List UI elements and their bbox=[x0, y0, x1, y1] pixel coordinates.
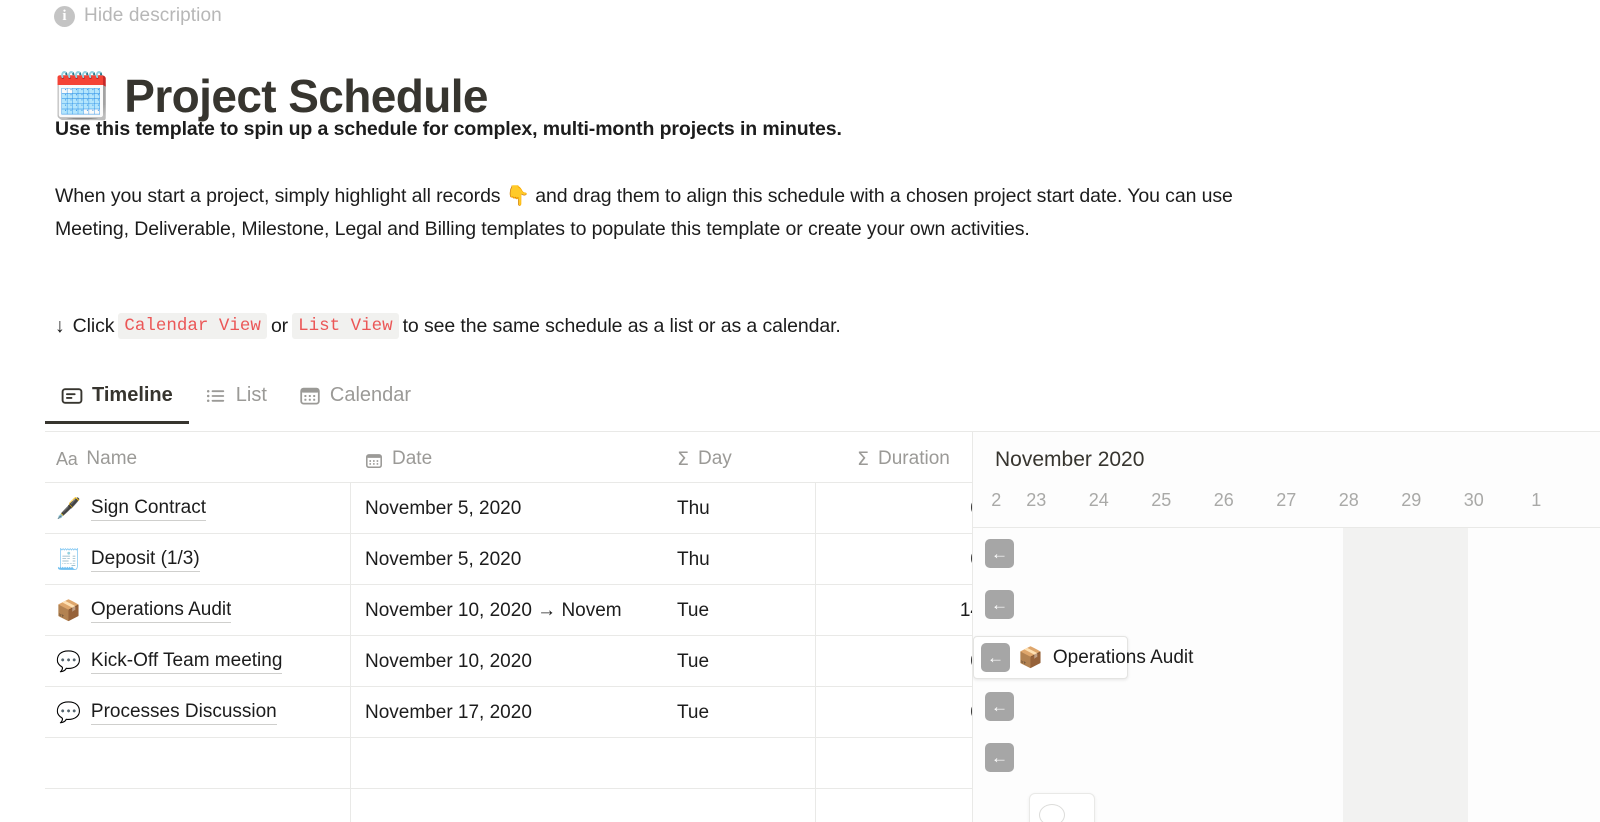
column-header-name[interactable]: Aa Name bbox=[56, 432, 137, 483]
row-date-cell[interactable]: November 17, 2020 bbox=[365, 687, 661, 738]
timeline-body: ← ← ← 📦 Operations Audit ← ← bbox=[973, 528, 1600, 822]
schedule-table: Aa Name bbox=[45, 432, 993, 822]
timeline-row[interactable]: ← bbox=[973, 528, 1600, 579]
row-day-cell: Tue bbox=[677, 687, 847, 738]
sigma-formula-icon: Σ bbox=[677, 448, 689, 470]
row-name-cell[interactable]: 🖋️ Sign Contract bbox=[56, 483, 351, 534]
timeline-day-tick: 1 bbox=[1505, 490, 1568, 511]
click-prefix-label: Click bbox=[73, 315, 115, 338]
row-name-label: Deposit (1/3) bbox=[91, 548, 200, 572]
timeline-day-tick: 24 bbox=[1068, 490, 1131, 511]
package-icon: 📦 bbox=[1018, 648, 1043, 668]
drag-left-handle-icon[interactable]: ← bbox=[985, 590, 1014, 619]
page-title: Project Schedule bbox=[124, 71, 488, 122]
column-header-duration-label: Duration bbox=[878, 448, 950, 470]
tab-list-label: List bbox=[236, 384, 267, 407]
table-row[interactable]: 🖋️ Sign Contract November 5, 2020 Thu 0 bbox=[45, 483, 993, 534]
calendar-icon bbox=[299, 385, 321, 407]
column-header-day-label: Day bbox=[698, 448, 732, 470]
timeline-day-tick: 30 bbox=[1443, 490, 1506, 511]
column-header-name-label: Name bbox=[86, 448, 137, 470]
timeline-bar-partial[interactable] bbox=[1029, 793, 1095, 822]
row-name-cell[interactable]: 💬 Processes Discussion bbox=[56, 687, 351, 738]
receipt-icon: 🧾 bbox=[56, 550, 81, 570]
row-name-cell[interactable]: 🧾 Deposit (1/3) bbox=[56, 534, 351, 585]
row-date-cell[interactable]: November 10, 2020 bbox=[365, 636, 661, 687]
row-name-label: Operations Audit bbox=[91, 599, 231, 623]
timeline-panel: November 2020 2 23 24 25 26 27 28 29 30 … bbox=[972, 432, 1600, 822]
timeline-bar-label: Operations Audit bbox=[1053, 647, 1193, 669]
speech-balloon-icon: 💬 bbox=[56, 652, 81, 672]
project-schedule-page: i Hide description 🗓️ Project Schedule U… bbox=[0, 0, 1600, 822]
row-date-cell[interactable]: November 5, 2020 bbox=[365, 483, 661, 534]
list-view-code-chip[interactable]: List View bbox=[292, 313, 399, 339]
tab-calendar[interactable]: Calendar bbox=[283, 380, 427, 424]
table-row-partial[interactable] bbox=[45, 738, 993, 789]
speech-balloon-icon bbox=[1039, 804, 1065, 822]
calendar-pad-emoji-icon: 🗓️ bbox=[53, 73, 110, 119]
row-day-cell: Tue bbox=[677, 636, 847, 687]
description-paragraph: When you start a project, simply highlig… bbox=[55, 180, 1270, 246]
info-circle-icon: i bbox=[54, 6, 75, 27]
drag-left-handle-icon[interactable]: ← bbox=[985, 743, 1014, 772]
row-day-cell: Thu bbox=[677, 483, 847, 534]
table-row[interactable]: 🧾 Deposit (1/3) November 5, 2020 Thu 0 bbox=[45, 534, 993, 585]
timeline-day-tick: 28 bbox=[1318, 490, 1381, 511]
view-tabs: Timeline List bbox=[45, 380, 427, 424]
arrow-down-icon: ↓ bbox=[55, 315, 65, 338]
tab-timeline-label: Timeline bbox=[92, 384, 173, 407]
timeline-day-tick: 25 bbox=[1130, 490, 1193, 511]
tab-list[interactable]: List bbox=[189, 380, 283, 424]
drag-left-handle-icon[interactable]: ← bbox=[985, 539, 1014, 568]
table-row[interactable]: 💬 Processes Discussion November 17, 2020… bbox=[45, 687, 993, 738]
timeline-row-partial[interactable] bbox=[973, 783, 1600, 822]
timeline-month-label: November 2020 bbox=[995, 448, 1144, 472]
drag-left-handle-icon[interactable]: ← bbox=[985, 692, 1014, 721]
description-click-line: ↓ Click Calendar View or List View to se… bbox=[55, 313, 841, 339]
row-day-cell: Thu bbox=[677, 534, 847, 585]
timeline-day-tick: 26 bbox=[1193, 490, 1256, 511]
list-icon bbox=[205, 385, 227, 407]
package-icon: 📦 bbox=[56, 601, 81, 621]
column-header-duration[interactable]: Σ Duration bbox=[857, 432, 950, 483]
row-name-cell[interactable]: 📦 Operations Audit bbox=[56, 585, 351, 636]
drag-left-handle-icon[interactable]: ← bbox=[981, 643, 1010, 672]
sigma-formula-icon: Σ bbox=[857, 448, 869, 470]
timeline-row[interactable]: ← 📦 Operations Audit bbox=[973, 630, 1600, 681]
table-row[interactable]: 💬 Kick-Off Team meeting November 10, 202… bbox=[45, 636, 993, 687]
row-date-cell[interactable]: November 10, 2020 → Novem bbox=[365, 585, 661, 636]
table-header-row: Aa Name bbox=[45, 432, 993, 483]
timeline-day-tick: 29 bbox=[1380, 490, 1443, 511]
click-suffix-label: to see the same schedule as a list or as… bbox=[403, 315, 841, 338]
row-name-label: Sign Contract bbox=[91, 497, 206, 521]
calendar-icon bbox=[365, 452, 383, 470]
timeline-row[interactable]: ← bbox=[973, 579, 1600, 630]
timeline-day-axis: 2 23 24 25 26 27 28 29 30 1 bbox=[973, 490, 1600, 524]
hide-description-toggle[interactable]: i Hide description bbox=[54, 5, 222, 27]
timeline-row[interactable]: ← bbox=[973, 732, 1600, 783]
column-header-date[interactable]: Date bbox=[365, 432, 432, 483]
hide-description-label: Hide description bbox=[84, 5, 222, 27]
speech-balloon-icon: 💬 bbox=[56, 703, 81, 723]
tab-calendar-label: Calendar bbox=[330, 384, 411, 407]
description-bold-line: Use this template to spin up a schedule … bbox=[55, 118, 842, 141]
timeline-row[interactable]: ← bbox=[973, 681, 1600, 732]
click-or-label: or bbox=[271, 315, 288, 338]
timeline-day-tick: 27 bbox=[1255, 490, 1318, 511]
timeline-bar-operations-audit[interactable]: ← 📦 Operations Audit bbox=[973, 636, 1128, 679]
timeline-day-tick: 23 bbox=[1005, 490, 1068, 511]
timeline-icon bbox=[61, 385, 83, 407]
pen-icon: 🖋️ bbox=[56, 499, 81, 519]
column-header-date-label: Date bbox=[392, 448, 432, 470]
aa-text-icon: Aa bbox=[56, 449, 77, 470]
column-header-day[interactable]: Σ Day bbox=[677, 432, 732, 483]
row-date-cell[interactable]: November 5, 2020 bbox=[365, 534, 661, 585]
row-name-label: Kick-Off Team meeting bbox=[91, 650, 282, 674]
row-name-label: Processes Discussion bbox=[91, 701, 277, 725]
row-name-cell[interactable]: 💬 Kick-Off Team meeting bbox=[56, 636, 351, 687]
calendar-view-code-chip[interactable]: Calendar View bbox=[118, 313, 267, 339]
row-day-cell: Tue bbox=[677, 585, 847, 636]
table-row[interactable]: 📦 Operations Audit November 10, 2020 → N… bbox=[45, 585, 993, 636]
tab-timeline[interactable]: Timeline bbox=[45, 380, 189, 424]
